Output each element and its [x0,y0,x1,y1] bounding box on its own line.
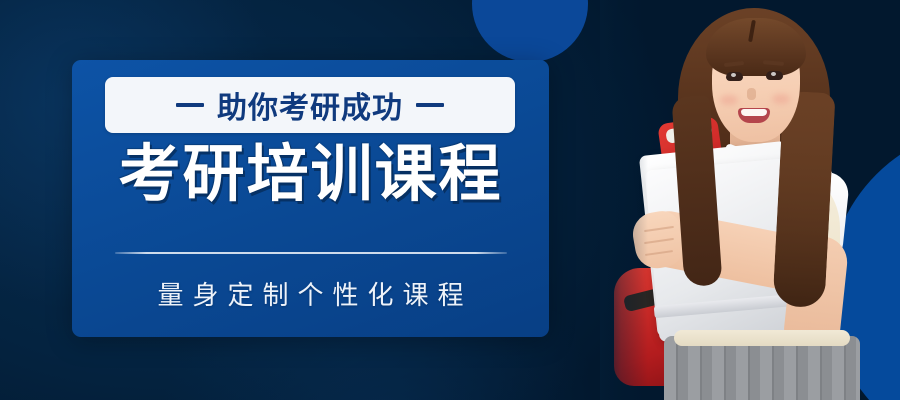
eye-highlight-right [771,72,776,76]
hair-front [706,18,806,76]
student-photo [600,0,900,400]
eye-highlight-left [731,73,736,77]
tagline-pill-content: 助你考研成功 [176,83,444,127]
blue-circle-top-decoration [472,0,588,62]
nose [747,88,756,100]
headline-card: 助你考研成功 考研培训课程 量身定制个性化课程 [72,60,549,337]
dash-left-icon [176,103,204,107]
tagline-text: 助你考研成功 [217,83,403,127]
banner-subtitle: 量身定制个性化课程 [72,275,549,312]
blush-right [772,94,790,104]
blush-left [720,95,738,105]
teeth [741,109,767,116]
vest-hem [674,330,850,346]
dash-right-icon [416,103,444,107]
promo-banner: 助你考研成功 考研培训课程 量身定制个性化课程 [0,0,900,400]
banner-title: 考研培训课程 [72,144,549,206]
tagline-pill: 助你考研成功 [105,77,515,133]
title-divider [115,252,507,254]
